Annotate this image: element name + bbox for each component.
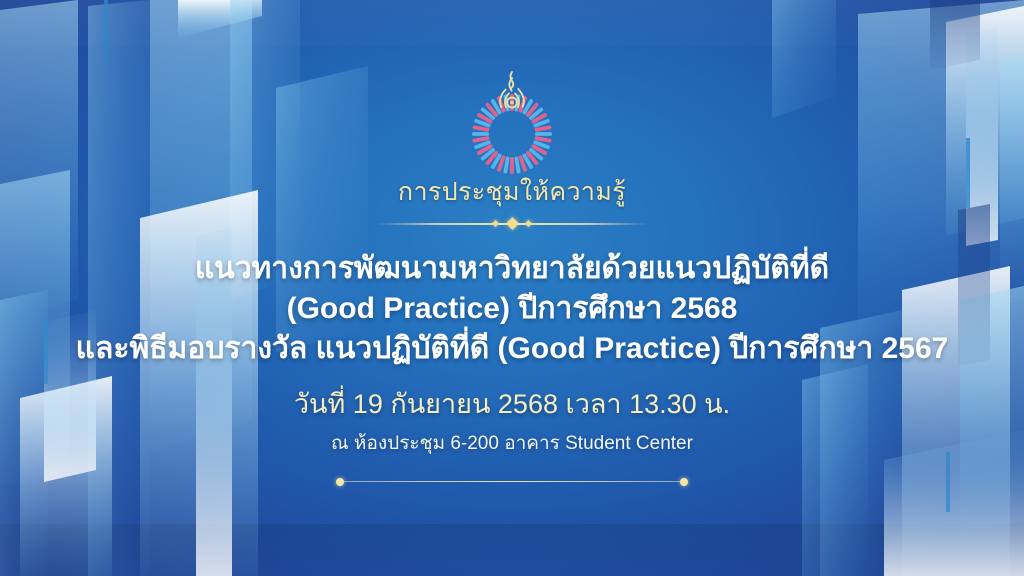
ornament-diamond-right [525, 220, 532, 227]
event-title: แนวทางการพัฒนามหาวิทยาลัยด้วยแนวปฏิบัติท… [76, 249, 949, 369]
title-line-2: (Good Practice) ปีการศึกษา 2568 [76, 289, 949, 329]
footer-divider-line [341, 481, 683, 483]
event-venue: ณ ห้องประชุม 6-200 อาคาร Student Center [331, 434, 693, 453]
banner-content: การประชุมให้ความรู้ แนวทางการพัฒนามหาวิท… [0, 0, 1024, 576]
footer-divider [336, 477, 688, 487]
title-line-1: แนวทางการพัฒนามหาวิทยาลัยด้วยแนวปฏิบัติท… [76, 249, 949, 289]
title-line-3: และพิธีมอบรางวัล แนวปฏิบัติที่ดี (Good P… [76, 329, 949, 369]
event-date-time: วันที่ 19 กันยายน 2568 เวลา 13.30 น. [294, 391, 730, 418]
event-banner: การประชุมให้ความรู้ แนวทางการพัฒนามหาวิท… [0, 0, 1024, 576]
footer-divider-dot-right [680, 478, 688, 486]
gold-ornament-divider [377, 217, 647, 231]
eyebrow-text: การประชุมให้ความรู้ [398, 180, 626, 205]
ornament-diamond-left [492, 220, 499, 227]
ornament-diamond-center [506, 217, 519, 230]
